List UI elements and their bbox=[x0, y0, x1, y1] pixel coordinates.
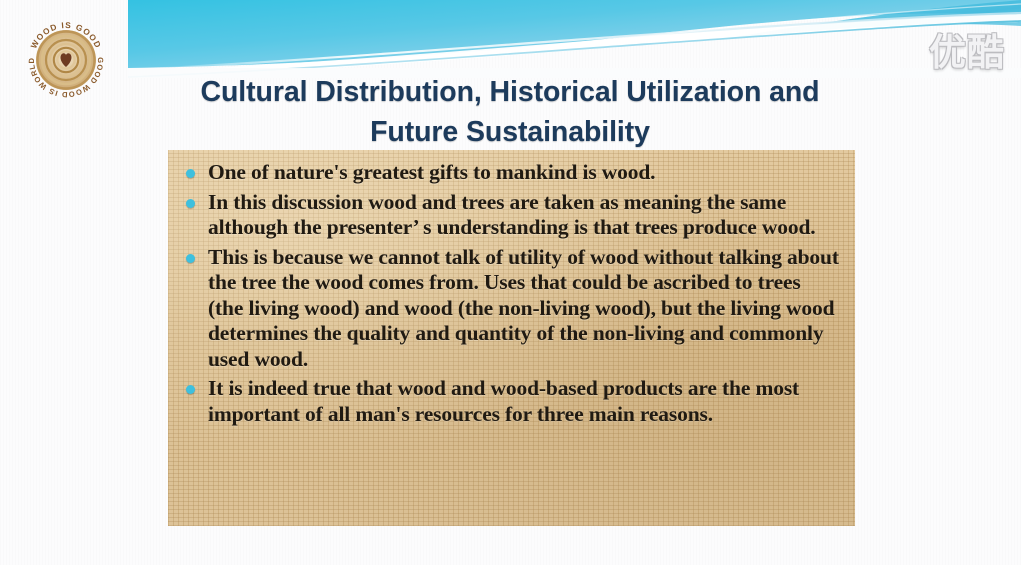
bullet-text: It is indeed true that wood and wood-bas… bbox=[208, 376, 799, 426]
bullet-text: This is because we cannot talk of utilit… bbox=[208, 245, 839, 371]
bullet-text: In this discussion wood and trees are ta… bbox=[208, 190, 816, 240]
slide-content-box: One of nature's greatest gifts to mankin… bbox=[168, 150, 855, 526]
decorative-wave-banner bbox=[128, 0, 1021, 78]
youku-watermark: 优酷 bbox=[929, 22, 1005, 76]
slide-title: Cultural Distribution, Historical Utiliz… bbox=[150, 72, 870, 152]
bullet-marker-icon bbox=[186, 169, 195, 178]
bullet-item: One of nature's greatest gifts to mankin… bbox=[178, 160, 841, 186]
bullet-text: One of nature's greatest gifts to mankin… bbox=[208, 160, 655, 184]
bullet-item: It is indeed true that wood and wood-bas… bbox=[178, 376, 841, 427]
slide-title-line-1: Cultural Distribution, Historical Utiliz… bbox=[150, 72, 870, 112]
bullet-marker-icon bbox=[186, 254, 195, 263]
bullet-marker-icon bbox=[186, 385, 195, 394]
slide-title-line-2: Future Sustainability bbox=[150, 112, 870, 152]
bullet-list: One of nature's greatest gifts to mankin… bbox=[168, 150, 855, 427]
slide-viewer: WOOD IS GOOD GOOD WOOD IS WORLD bbox=[0, 0, 1021, 565]
bullet-item: In this discussion wood and trees are ta… bbox=[178, 190, 841, 241]
bullet-item: This is because we cannot talk of utilit… bbox=[178, 245, 841, 373]
bullet-marker-icon bbox=[186, 199, 195, 208]
wood-is-good-logo: WOOD IS GOOD GOOD WOOD IS WORLD bbox=[14, 8, 118, 108]
